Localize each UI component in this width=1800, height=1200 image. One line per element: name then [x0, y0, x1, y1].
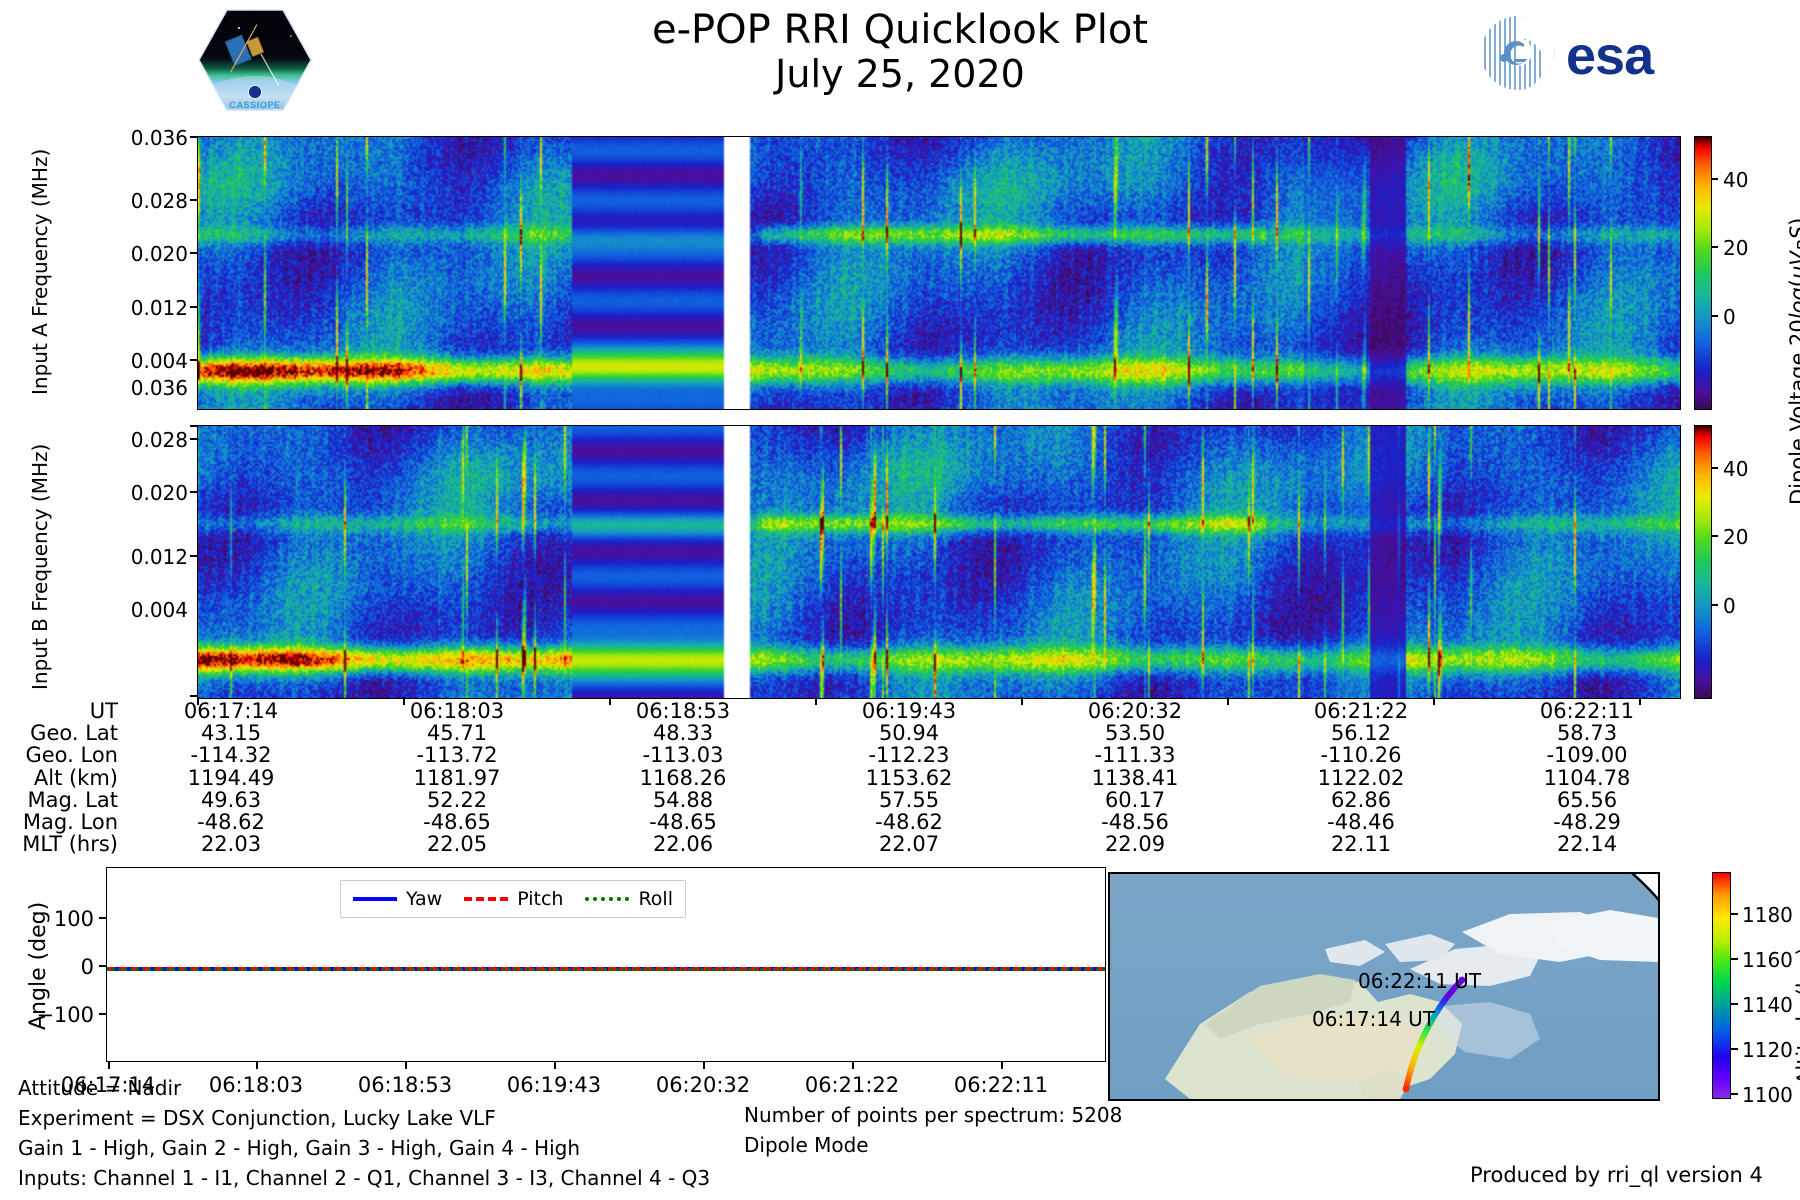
alt-tick-4: 1100 [1742, 1083, 1793, 1107]
note-inputs: Inputs: Channel 1 - I1, Channel 2 - Q1, … [18, 1163, 710, 1193]
attitude-xtickmark-1 [256, 1062, 258, 1069]
attitude-xtickmark-2 [405, 1062, 407, 1069]
attitude-ytickmark-1 [99, 965, 106, 967]
ephem-cell: 49.63 [118, 789, 344, 811]
spec-a-ytick-3: 0.012 [102, 296, 188, 320]
table-row: MLT (hrs) 22.03 22.05 22.06 22.07 22.09 … [0, 833, 1700, 855]
legend-entry-pitch: Pitch [464, 888, 563, 910]
alt-tick-0: 1180 [1742, 903, 1793, 927]
spec-b-ytick-1: 0.028 [102, 428, 188, 452]
cbar-a-tick-1: 20 [1723, 236, 1748, 260]
ephem-cell: 06:20:32 [1022, 700, 1248, 722]
ephem-row-label: UT [0, 700, 118, 722]
attitude-trace-roll [107, 968, 1105, 971]
spec-b-ytickmark-1 [190, 438, 197, 440]
attitude-xtickmark-3 [554, 1062, 556, 1069]
ephem-cell: 60.17 [1022, 789, 1248, 811]
ephem-cell: -113.72 [344, 744, 570, 766]
legend-swatch-pitch-icon [464, 897, 508, 901]
cbar-b-tick-2: 0 [1723, 594, 1736, 618]
table-row: Alt (km) 1194.49 1181.97 1168.26 1153.62… [0, 767, 1700, 789]
ephem-cell: 50.94 [796, 722, 1022, 744]
altitude-colorbar-label: Altitude (km) [1793, 947, 1800, 1085]
ephem-cell: 1181.97 [344, 767, 570, 789]
ephem-cell: 1138.41 [1022, 767, 1248, 789]
note-attitude: Attitude = Nadir [18, 1073, 710, 1103]
spec-a-ytick-4: 0.004 [102, 349, 188, 373]
attitude-xtickmark-6 [1001, 1062, 1003, 1069]
spec-a-ytickmark-4 [190, 359, 197, 361]
ephem-cell: 06:17:14 [118, 700, 344, 722]
ephemeris-table: UT 06:17:14 06:18:03 06:18:53 06:19:43 0… [0, 700, 1700, 855]
attitude-xtick-5: 06:21:22 [782, 1073, 922, 1097]
spec-a-ytick-0: 0.036 [102, 126, 188, 150]
legend-swatch-roll-icon [585, 897, 629, 901]
spec-a-ytick-1: 0.028 [102, 189, 188, 213]
ephem-cell: 1194.49 [118, 767, 344, 789]
altitude-colorbar [1712, 872, 1731, 1099]
spec-a-ytickmark-0 [190, 136, 197, 138]
ephem-row-label: Alt (km) [0, 767, 118, 789]
ephem-cell: 45.71 [344, 722, 570, 744]
ephem-row-label: Geo. Lon [0, 744, 118, 766]
cbar-b-tickmark-1 [1711, 535, 1718, 537]
legend-entry-yaw: Yaw [353, 888, 442, 910]
ephem-cell: -111.33 [1022, 744, 1248, 766]
spec-b-ytick-3: 0.012 [102, 545, 188, 569]
spectrogram-b-colorbar [1694, 425, 1712, 699]
svg-text:esa: esa [1566, 26, 1655, 86]
ephem-cell: 06:19:43 [796, 700, 1022, 722]
cassiope-mission-patch-icon: CASSIOPE [195, 6, 315, 114]
ephem-cell: 54.88 [570, 789, 796, 811]
ephem-cell: 53.50 [1022, 722, 1248, 744]
ephem-cell: 43.15 [118, 722, 344, 744]
ephem-cell: 65.56 [1474, 789, 1700, 811]
ephem-cell: -109.00 [1474, 744, 1700, 766]
spec-b-ytickmark-2 [190, 491, 197, 493]
spec-a-ylabel: Input A Frequency (MHz) [28, 149, 52, 395]
globe-track-end-label: 06:22:11 UT [1358, 969, 1481, 993]
legend-label-yaw: Yaw [406, 888, 442, 910]
alt-tickmark-0 [1730, 913, 1738, 915]
cbar-a-tickmark-2 [1711, 315, 1718, 317]
table-row: UT 06:17:14 06:18:03 06:18:53 06:19:43 0… [0, 700, 1700, 722]
alt-tickmark-1 [1730, 958, 1738, 960]
alt-tickmark-2 [1730, 1003, 1738, 1005]
ephem-cell: -48.46 [1248, 811, 1474, 833]
ephem-cell: -48.29 [1474, 811, 1700, 833]
globe-track-start-label: 06:17:14 UT [1312, 1007, 1435, 1031]
dipole-voltage-colorbar-label: Dipole Voltage 20log(μVBS) [1786, 218, 1800, 505]
page-title: e-POP RRI Quicklook Plot [500, 8, 1300, 53]
legend-swatch-yaw-icon [353, 897, 397, 901]
ephem-cell: 1122.02 [1248, 767, 1474, 789]
ephem-cell: 22.07 [796, 833, 1022, 855]
ephem-row-label: MLT (hrs) [0, 833, 118, 855]
ephem-cell: 06:18:03 [344, 700, 570, 722]
ephem-cell: 58.73 [1474, 722, 1700, 744]
ephem-cell: 22.11 [1248, 833, 1474, 855]
attitude-legend: Yaw Pitch Roll [340, 880, 686, 918]
spec-a-ytickmark-1 [190, 199, 197, 201]
spectrogram-input-b[interactable] [197, 425, 1681, 699]
ephem-cell: 52.22 [344, 789, 570, 811]
ephem-cell: 57.55 [796, 789, 1022, 811]
spec-a-ytickmark-3 [190, 306, 197, 308]
spec-a-ytick-2: 0.020 [102, 242, 188, 266]
ephem-cell: 1168.26 [570, 767, 796, 789]
spec-b-ytickmark-4 [190, 695, 197, 697]
ephem-cell: 1104.78 [1474, 767, 1700, 789]
ephem-cell: -48.65 [570, 811, 796, 833]
ephem-cell: 22.09 [1022, 833, 1248, 855]
ephem-row-label: Mag. Lat [0, 789, 118, 811]
cbar-a-tick-0: 40 [1723, 168, 1748, 192]
spec-b-ytick-0: 0.036 [102, 376, 188, 400]
producer-note: Produced by rri_ql version 4 [1470, 1163, 1763, 1187]
note-experiment: Experiment = DSX Conjunction, Lucky Lake… [18, 1103, 710, 1133]
attitude-ytick-2: −100 [16, 1003, 94, 1027]
attitude-ytick-1: 0 [16, 955, 94, 979]
ephem-cell: -113.03 [570, 744, 796, 766]
cbar-b-tickmark-0 [1711, 467, 1718, 469]
ephem-cell: 06:22:11 [1474, 700, 1700, 722]
ephem-cell: 06:18:53 [570, 700, 796, 722]
legend-label-pitch: Pitch [517, 888, 563, 910]
page-subtitle-date: July 25, 2020 [500, 53, 1300, 97]
attitude-ytickmark-0 [99, 917, 106, 919]
note-points-per-spectrum: Number of points per spectrum: 5208 [744, 1100, 1122, 1130]
ephem-cell: 48.33 [570, 722, 796, 744]
spectrogram-a-colorbar [1694, 136, 1712, 410]
alt-tick-3: 1120 [1742, 1038, 1793, 1062]
ephem-cell: 22.14 [1474, 833, 1700, 855]
table-row: Mag. Lon -48.62 -48.65 -48.65 -48.62 -48… [0, 811, 1700, 833]
spectrogram-input-a[interactable] [197, 136, 1681, 410]
cbar-b-tick-0: 40 [1723, 457, 1748, 481]
cbar-b-tickmark-2 [1711, 604, 1718, 606]
notes-middle-block: Number of points per spectrum: 5208 Dipo… [744, 1100, 1122, 1160]
alt-tickmark-3 [1730, 1048, 1738, 1050]
attitude-xtickmark-5 [852, 1062, 854, 1069]
svg-text:CASSIOPE: CASSIOPE [229, 100, 280, 110]
ephem-cell: -114.32 [118, 744, 344, 766]
table-row: Geo. Lon -114.32 -113.72 -113.03 -112.23… [0, 744, 1700, 766]
ephem-cell: -48.62 [796, 811, 1022, 833]
ephem-cell: 06:21:22 [1248, 700, 1474, 722]
ephem-cell: -112.23 [796, 744, 1022, 766]
attitude-ytick-0: 100 [16, 907, 94, 931]
cbar-b-tick-1: 20 [1723, 525, 1748, 549]
spec-b-ytickmark-3 [190, 555, 197, 557]
ephem-row-label: Geo. Lat [0, 722, 118, 744]
ephem-cell: 22.06 [570, 833, 796, 855]
ephem-cell: 22.05 [344, 833, 570, 855]
note-gains: Gain 1 - High, Gain 2 - High, Gain 3 - H… [18, 1133, 710, 1163]
alt-tick-2: 1140 [1742, 993, 1793, 1017]
esa-logo-icon: esa [1478, 14, 1698, 92]
ephem-row-label: Mag. Lon [0, 811, 118, 833]
alt-tickmark-4 [1730, 1093, 1738, 1095]
spec-a-ytickmark-2 [190, 252, 197, 254]
attitude-ytickmark-2 [99, 1013, 106, 1015]
ephem-cell: 1153.62 [796, 767, 1022, 789]
table-row: Geo. Lat 43.15 45.71 48.33 50.94 53.50 5… [0, 722, 1700, 744]
legend-label-roll: Roll [638, 888, 673, 910]
notes-left-block: Attitude = Nadir Experiment = DSX Conjun… [18, 1073, 710, 1193]
cbar-a-tickmark-0 [1711, 178, 1718, 180]
legend-entry-roll: Roll [585, 888, 673, 910]
attitude-xtickmark-0 [108, 1062, 110, 1069]
ephem-cell: -48.65 [344, 811, 570, 833]
ephem-cell: -110.26 [1248, 744, 1474, 766]
spec-b-ylabel: Input B Frequency (MHz) [28, 444, 52, 690]
spec-b-ytickmark-0 [190, 425, 197, 427]
note-dipole-mode: Dipole Mode [744, 1130, 1122, 1160]
alt-tick-1: 1160 [1742, 948, 1793, 972]
attitude-xtickmark-4 [703, 1062, 705, 1069]
ground-track-globe-map[interactable]: 06:22:11 UT 06:17:14 UT [1108, 872, 1660, 1101]
table-row: Mag. Lat 49.63 52.22 54.88 57.55 60.17 6… [0, 789, 1700, 811]
ephem-cell: 62.86 [1248, 789, 1474, 811]
spec-b-ytick-4: 0.004 [102, 598, 188, 622]
attitude-xtick-6: 06:22:11 [931, 1073, 1071, 1097]
ephem-cell: -48.62 [118, 811, 344, 833]
header-title-block: e-POP RRI Quicklook Plot July 25, 2020 [500, 8, 1300, 96]
cbar-a-tickmark-1 [1711, 246, 1718, 248]
ephem-cell: 22.03 [118, 833, 344, 855]
ephem-cell: -48.56 [1022, 811, 1248, 833]
spec-b-ytick-2: 0.020 [102, 481, 188, 505]
cbar-a-tick-2: 0 [1723, 305, 1736, 329]
ephem-cell: 56.12 [1248, 722, 1474, 744]
